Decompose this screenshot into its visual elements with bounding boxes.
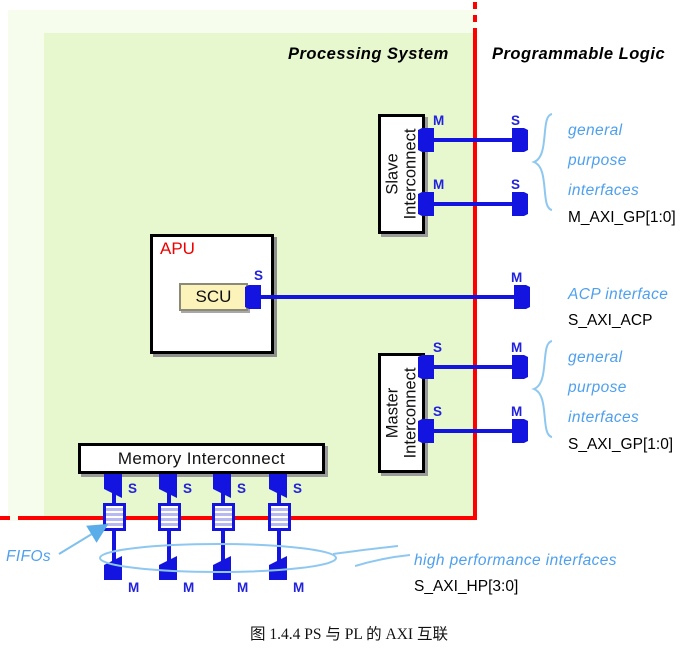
gp-top-annotation-line3: interfaces	[568, 182, 639, 200]
master-interconnect-label-line1: Master	[383, 388, 402, 438]
gp-top-arrow-1	[418, 128, 528, 152]
pl-port-m-top: M	[511, 341, 522, 355]
gp-bottom-annotation-line3: interfaces	[568, 409, 639, 427]
apu-label: APU	[160, 239, 195, 259]
gp-top-arrow-2	[418, 192, 528, 216]
diagram-canvas: Processing System Programmable Logic Sla…	[0, 0, 698, 660]
gp-bottom-annotation-line1: general	[568, 349, 623, 367]
hp-group-ellipse	[98, 540, 398, 576]
ps-pl-boundary-dashed-top	[473, 2, 477, 32]
scu-label: SCU	[181, 287, 246, 307]
pl-port-s-bottom: S	[511, 178, 520, 192]
memory-interconnect-block[interactable]: Memory Interconnect	[78, 443, 325, 474]
figure-caption: 图 1.4.4 PS 与 PL 的 AXI 互联	[0, 622, 698, 644]
acp-arrow	[245, 285, 530, 309]
gp-bottom-signal-name: S_AXI_GP[1:0]	[568, 436, 673, 454]
fifos-label: FIFOs	[6, 548, 51, 566]
ps-pl-boundary-dashed-left	[0, 516, 24, 520]
scu-block[interactable]: SCU	[179, 283, 248, 311]
master-ic-port-s-bottom: S	[433, 405, 442, 419]
fifo-block-4	[268, 503, 291, 531]
acp-port-m: M	[511, 271, 522, 285]
hp-signal-name: S_AXI_HP[3:0]	[414, 578, 518, 596]
gp-top-annotation-line1: general	[568, 122, 623, 140]
gp-bottom-arrow-1	[418, 355, 528, 379]
mem-port-s-1: S	[128, 482, 137, 496]
hp-port-m-4: M	[293, 581, 304, 595]
gp-top-brace	[530, 112, 558, 212]
mem-port-s-4: S	[293, 482, 302, 496]
gp-top-annotation-line2: purpose	[568, 152, 627, 170]
slave-interconnect-label-line1: Slave	[383, 153, 402, 194]
gp-top-signal-name: M_AXI_GP[1:0]	[568, 209, 676, 227]
slave-ic-port-m-bottom: M	[433, 178, 444, 192]
scu-port-s: S	[254, 269, 263, 283]
programmable-logic-title: Programmable Logic	[492, 45, 665, 64]
master-ic-port-s-top: S	[433, 341, 442, 355]
mem-port-s-2: S	[183, 482, 192, 496]
pl-port-s-top: S	[511, 114, 520, 128]
gp-bottom-brace	[530, 339, 558, 439]
hp-port-m-3: M	[237, 581, 248, 595]
acp-annotation: ACP interface	[568, 286, 668, 304]
hp-leader-line	[355, 552, 410, 572]
acp-signal-name: S_AXI_ACP	[568, 312, 652, 330]
hp-port-m-1: M	[128, 581, 139, 595]
gp-bottom-arrow-2	[418, 419, 528, 443]
memory-interconnect-label: Memory Interconnect	[81, 449, 322, 469]
gp-bottom-annotation-line2: purpose	[568, 379, 627, 397]
mem-port-s-3: S	[237, 482, 246, 496]
master-interconnect-label-line2: Interconnect	[401, 368, 420, 459]
ps-pl-boundary-line	[473, 30, 477, 520]
hp-annotation: high performance interfaces	[414, 552, 617, 570]
processing-system-title: Processing System	[288, 45, 449, 64]
slave-ic-port-m-top: M	[433, 114, 444, 128]
pl-port-m-bottom: M	[511, 405, 522, 419]
fifo-block-3	[212, 503, 235, 531]
hp-port-m-2: M	[183, 581, 194, 595]
fifo-block-2	[158, 503, 181, 531]
